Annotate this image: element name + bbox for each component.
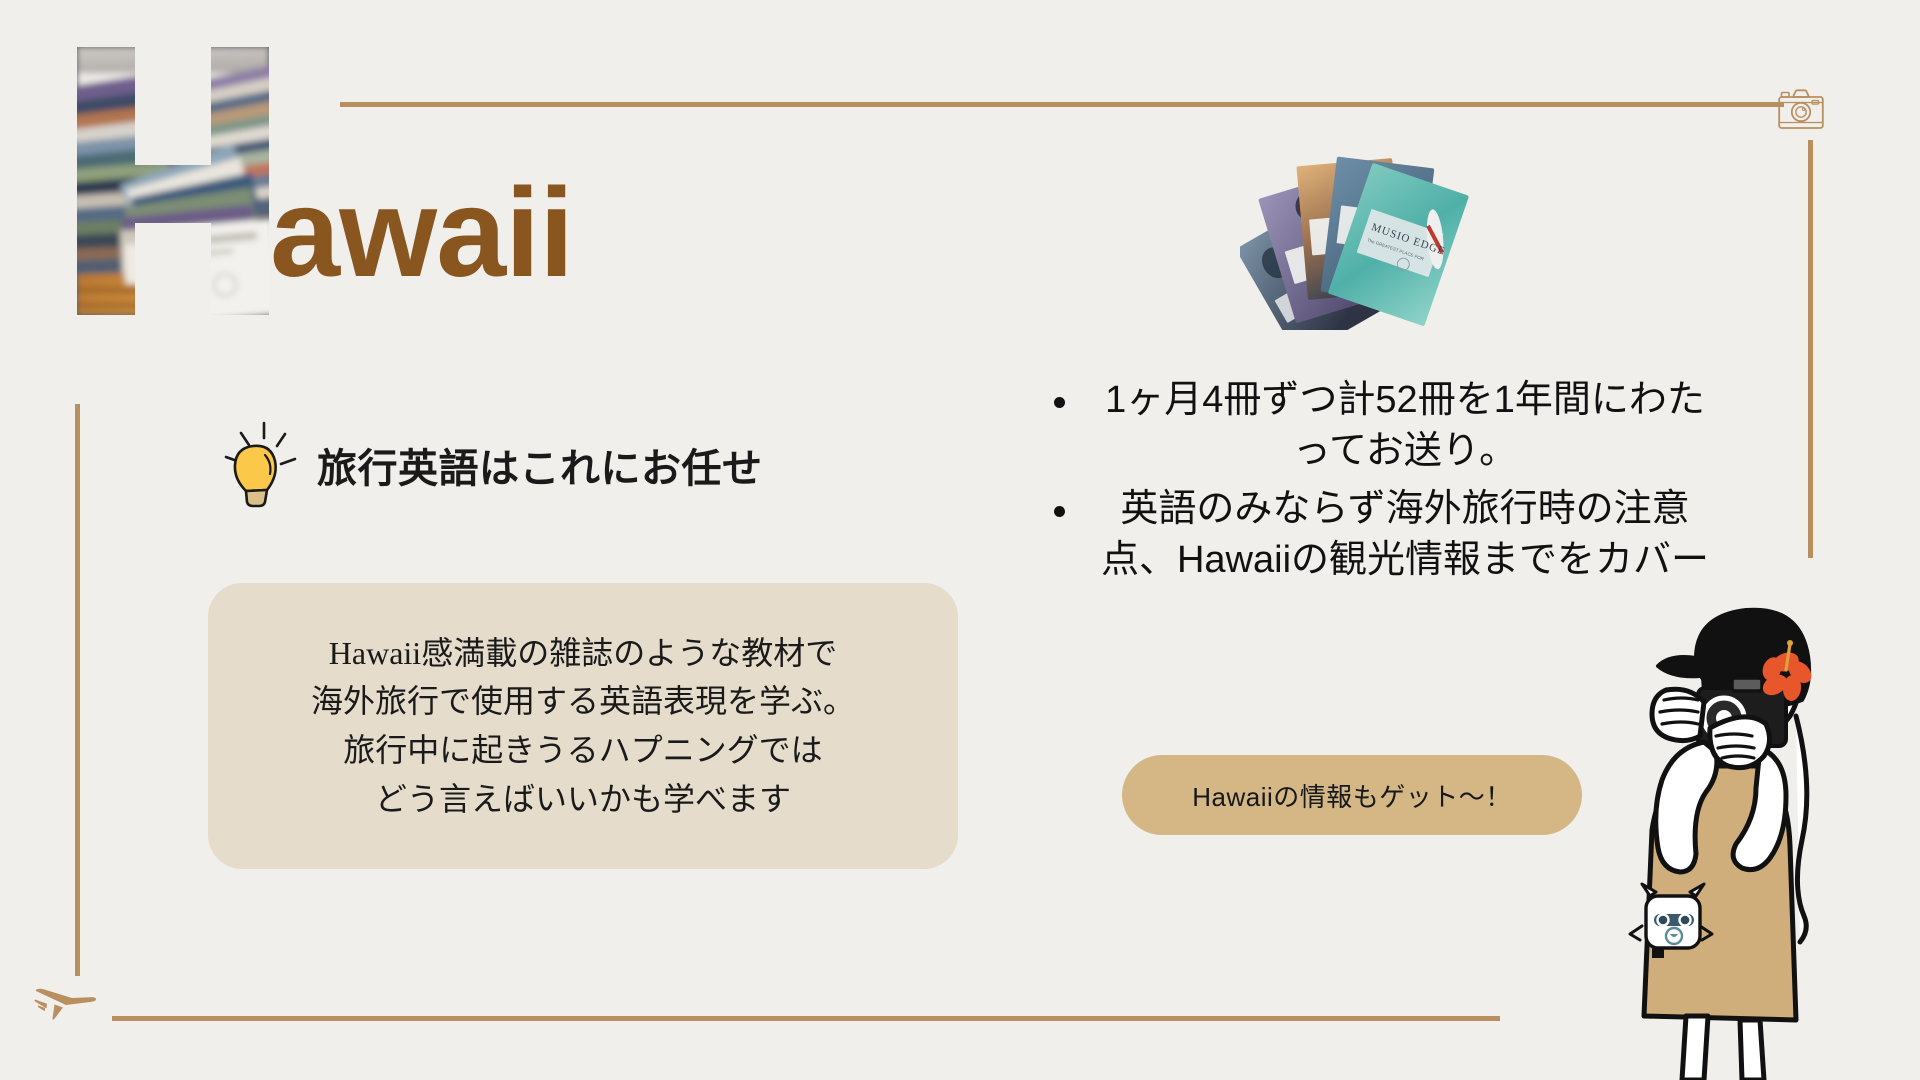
left-vertical-rule <box>75 404 80 976</box>
photographer-illustration <box>1600 596 1920 1080</box>
list-item: 英語のみならず海外旅行時の注意点、Hawaiiの観光情報までをカバー <box>1040 484 1720 587</box>
get-hawaii-info-button[interactable]: Hawaiiの情報もゲット〜！ <box>1122 755 1582 835</box>
title-letter-h-photo <box>77 47 269 315</box>
section-heading-label: 旅行英語はこれにお任せ <box>317 436 763 494</box>
slide-canvas: awaii <box>0 0 1920 1080</box>
airplane-icon <box>32 980 98 1022</box>
description-card: Hawaii感満載の雑誌のような教材で 海外旅行で使用する英語表現を学ぶ。 旅行… <box>208 583 958 869</box>
page-title: awaii <box>60 30 820 310</box>
camera-icon <box>1778 86 1824 130</box>
feature-bullet-list: 1ヶ月4冊ずつ計52冊を1年間にわたってお送り。 英語のみならず海外旅行時の注意… <box>1040 375 1720 592</box>
description-text: Hawaii感満載の雑誌のような教材で 海外旅行で使用する英語表現を学ぶ。 旅行… <box>311 629 855 824</box>
title-text-awaii: awaii <box>270 30 690 315</box>
bottom-horizontal-rule <box>112 1016 1500 1021</box>
magazine-stack-photo: MUSIO EDGE The GREATEST PLACE FOR <box>1240 130 1500 330</box>
list-item: 1ヶ月4冊ずつ計52冊を1年間にわたってお送り。 <box>1040 375 1720 478</box>
section-heading-left: 旅行英語はこれにお任せ <box>215 415 763 515</box>
right-vertical-rule <box>1808 140 1813 558</box>
lightbulb-icon <box>215 417 299 513</box>
